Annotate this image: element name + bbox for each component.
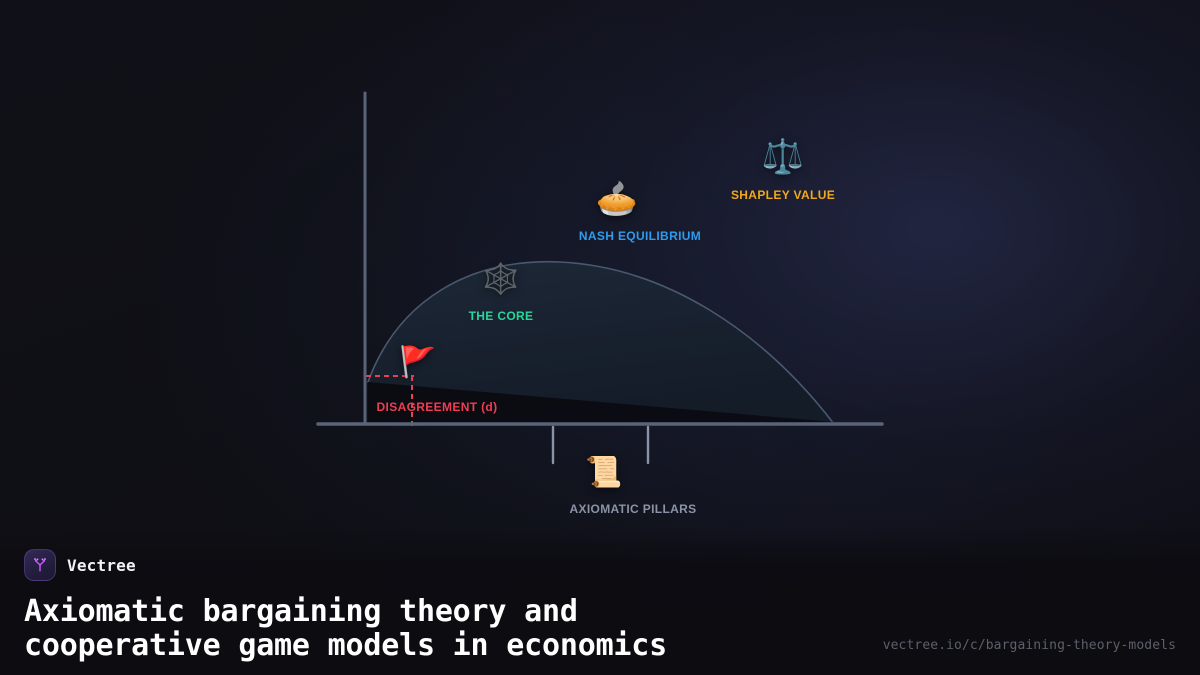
shapley-value-label: SHAPLEY VALUE — [731, 188, 835, 202]
poster-canvas: ⚖️ SHAPLEY VALUE 🥧 NASH EQUILIBRIUM 🕸️ T… — [0, 0, 1200, 675]
the-core-label: THE CORE — [469, 309, 534, 323]
red-flag-icon: 🚩 — [399, 348, 436, 378]
brand-name: Vectree — [67, 556, 136, 575]
balance-scale-icon: ⚖️ — [762, 140, 804, 174]
axiomatic-pillars-label: AXIOMATIC PILLARS — [569, 502, 696, 516]
spider-web-icon: 🕸️ — [482, 265, 519, 295]
vectree-tree-glyph-icon — [24, 549, 56, 581]
source-url: vectree.io/c/bargaining-theory-models — [883, 638, 1176, 653]
brand-row: Vectree — [24, 549, 1176, 581]
pie-icon: 🥧 — [596, 182, 638, 216]
nash-equilibrium-label: NASH EQUILIBRIUM — [579, 229, 701, 243]
scroll-icon: 📜 — [585, 458, 622, 488]
page-title: Axiomatic bargaining theory and cooperat… — [24, 595, 864, 663]
bargaining-set-diagram: ⚖️ SHAPLEY VALUE 🥧 NASH EQUILIBRIUM 🕸️ T… — [0, 0, 1200, 560]
poster-footer: Vectree Axiomatic bargaining theory and … — [0, 527, 1200, 675]
disagreement-point-label: DISAGREEMENT (d) — [377, 400, 498, 414]
